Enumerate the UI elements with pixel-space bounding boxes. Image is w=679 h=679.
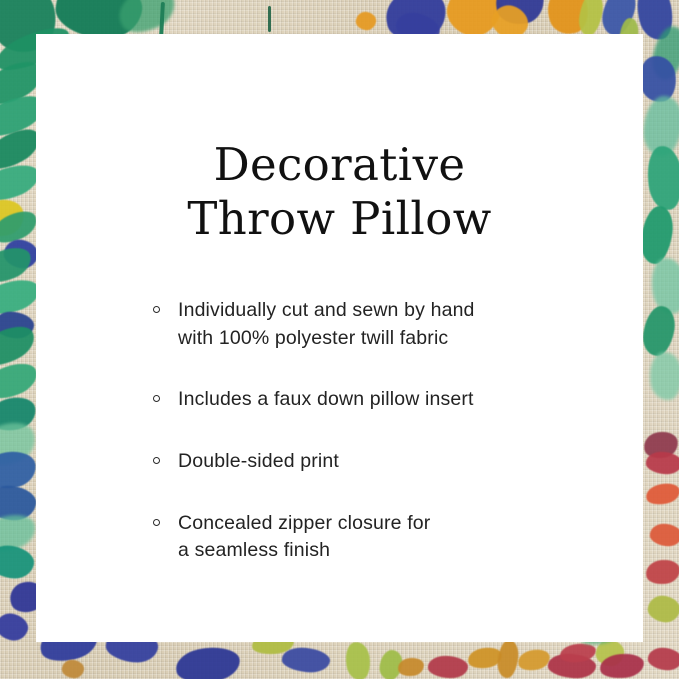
product-info-card: Decorative Throw Pillow Individually cut… <box>36 34 643 642</box>
product-info-graphic: Decorative Throw Pillow Individually cut… <box>0 0 679 679</box>
paint-stroke-green <box>268 6 271 32</box>
feature-list: Individually cut and sewn by hand with 1… <box>36 297 643 565</box>
page-title: Decorative Throw Pillow <box>36 138 643 246</box>
title-line-1: Decorative <box>76 138 603 192</box>
feature-text: Concealed zipper closure for a seamless … <box>178 510 643 565</box>
list-item: Individually cut and sewn by hand with 1… <box>153 297 643 352</box>
hollow-circle-bullet-icon <box>153 306 160 313</box>
feature-text: Double-sided print <box>178 448 643 476</box>
card-content: Decorative Throw Pillow Individually cut… <box>36 138 643 565</box>
hollow-circle-bullet-icon <box>153 519 160 526</box>
list-item: Concealed zipper closure for a seamless … <box>153 510 643 565</box>
list-item: Double-sided print <box>153 448 643 476</box>
hollow-circle-bullet-icon <box>153 395 160 402</box>
title-line-2: Throw Pillow <box>76 192 603 246</box>
feature-text: Includes a faux down pillow insert <box>178 386 643 414</box>
hollow-circle-bullet-icon <box>153 457 160 464</box>
feature-text: Individually cut and sewn by hand with 1… <box>178 297 643 352</box>
list-item: Includes a faux down pillow insert <box>153 386 643 414</box>
